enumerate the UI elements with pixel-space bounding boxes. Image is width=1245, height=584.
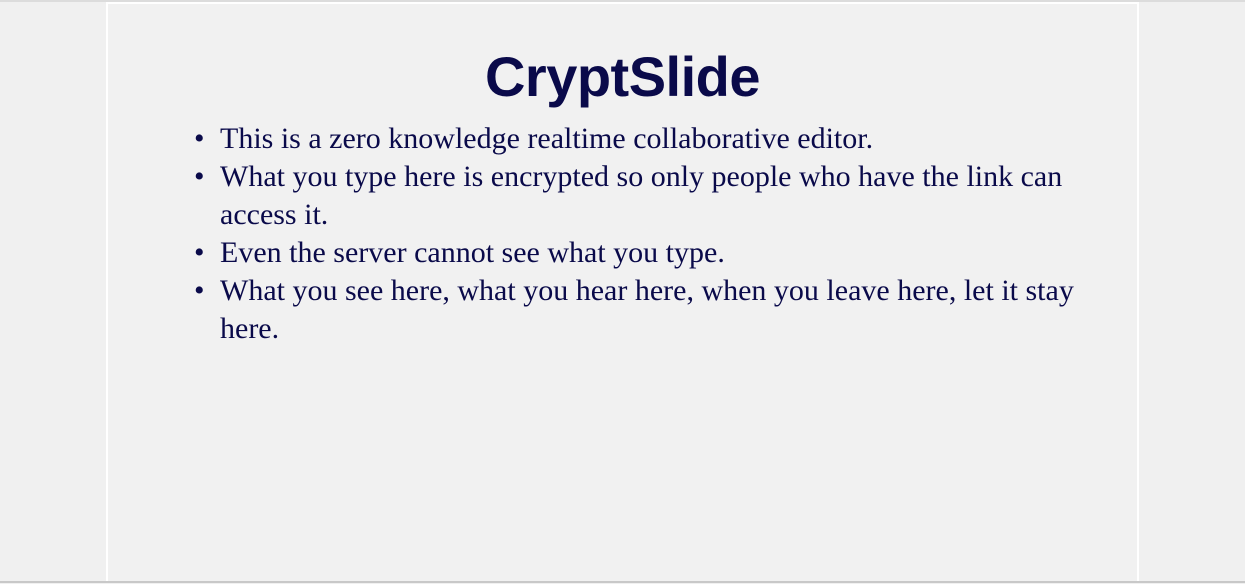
slide-title[interactable]: CryptSlide [108,46,1137,108]
slide-stage[interactable]: CryptSlide • This is a zero knowledge re… [106,2,1139,581]
slide-bullet-list[interactable]: • This is a zero knowledge realtime coll… [148,120,1126,348]
slide-bullet-item[interactable]: • What you type here is encrypted so onl… [148,158,1126,234]
slide-bullet-item[interactable]: • Even the server cannot see what you ty… [148,234,1126,272]
bullet-point-icon: • [194,120,208,158]
bullet-point-icon: • [194,234,208,272]
slide-bullet-text: Even the server cannot see what you type… [220,234,1126,272]
slide-bullet-text: What you type here is encrypted so only … [220,158,1126,234]
bottom-divider-rule [0,581,1245,583]
bullet-point-icon: • [194,158,208,196]
slide-bullet-item[interactable]: • What you see here, what you hear here,… [148,272,1126,348]
bullet-point-icon: • [194,272,208,310]
slide-viewer: CryptSlide • This is a zero knowledge re… [0,0,1245,584]
slide-bullet-text: What you see here, what you hear here, w… [220,272,1126,348]
slide-bullet-text: This is a zero knowledge realtime collab… [220,120,1126,158]
slide-bullet-item[interactable]: • This is a zero knowledge realtime coll… [148,120,1126,158]
